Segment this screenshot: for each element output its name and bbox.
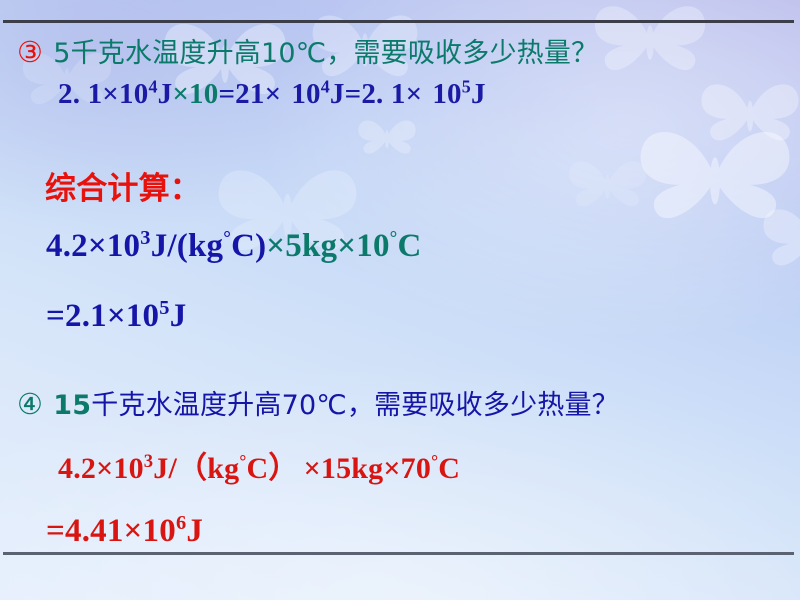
- cf2-unit: J: [170, 298, 187, 334]
- answer3-unit-b: J: [471, 78, 486, 110]
- content-frame: ③5千克水温度升高10℃，需要吸收多少热量？ 2. 1×104J×10=21×1…: [3, 20, 794, 555]
- answer3-exp-b: 4: [321, 76, 330, 96]
- q4a2-result: =4.41×10: [46, 513, 176, 549]
- slide-canvas: ③5千克水温度升高10℃，需要吸收多少热量？ 2. 1×104J×10=21×1…: [0, 0, 800, 600]
- cf1-exponent: 3: [140, 227, 150, 249]
- answer3-term-f: 10: [432, 78, 461, 110]
- answer3-exp-a: 4: [148, 76, 157, 96]
- cf1-celsius: C: [398, 228, 422, 264]
- question-4-marker: ④: [17, 387, 43, 421]
- q4a1-paren-close: ）: [268, 452, 298, 485]
- q4a2-unit: J: [186, 513, 203, 549]
- q4a1-celsius-2: C: [438, 452, 460, 485]
- q4a1-paren-open: （: [177, 452, 207, 485]
- question-3-line: ③5千克水温度升高10℃，需要吸收多少热量？: [17, 31, 598, 70]
- answer3-exp-c: 5: [462, 76, 471, 96]
- question-4-line: ④15千克水温度升高70℃，需要吸收多少热量？: [17, 383, 619, 422]
- cf2-result: =2.1×10: [46, 298, 159, 334]
- question-3-text: 5千克水温度升高10℃，需要吸收多少热量？: [53, 38, 598, 69]
- cf2-exponent: 5: [159, 297, 169, 319]
- combined-formula-line-2: =2.1×105J: [46, 298, 186, 335]
- question-3-marker: ③: [17, 35, 43, 69]
- cf1-coefficient: 4.2×10: [46, 228, 140, 264]
- cf1-degree-sign: °: [223, 228, 231, 249]
- q4a1-mass-temp: ×15kg×70: [304, 452, 431, 485]
- answer3-term-e: J=2. 1×: [330, 78, 422, 110]
- cf1-degree-sign-2: °: [390, 228, 398, 249]
- question-4-text: 千克水温度升高70℃，需要吸收多少热量？: [91, 390, 619, 421]
- question-4-answer-line-2: =4.41×106J: [46, 513, 203, 550]
- combined-calculation-heading: 综合计算：: [45, 163, 201, 208]
- question-4-number: 15: [53, 390, 91, 421]
- answer3-term-b: ×10: [172, 78, 218, 110]
- q4a1-exponent: 3: [144, 451, 154, 472]
- question-3-answer: 2. 1×104J×10=21×104J=2. 1×105J: [58, 78, 486, 111]
- answer3-term-c: =21×: [218, 78, 281, 110]
- question-4-answer-line-1: 4.2×103J/（kg°C）×15kg×70°C: [58, 443, 460, 487]
- answer3-unit-a: J: [158, 78, 173, 110]
- answer3-term-a: 2. 1×10: [58, 78, 148, 110]
- q4a2-exponent: 6: [176, 512, 186, 534]
- q4a1-kg: kg: [207, 452, 239, 485]
- q4a1-degree-sign: °: [239, 451, 246, 471]
- cf1-unit-end: C): [231, 228, 266, 264]
- answer3-term-d: 10: [291, 78, 320, 110]
- combined-formula-line-1: 4.2×103J/(kg°C)×5kg×10°C: [46, 228, 422, 265]
- cf1-mass-temp: ×5kg×10: [266, 228, 389, 264]
- cf1-unit-start: J/(kg: [151, 228, 224, 264]
- q4a1-unit-start: J/: [153, 452, 177, 485]
- q4a1-celsius: C: [247, 452, 269, 485]
- q4a1-coefficient: 4.2×10: [58, 452, 144, 485]
